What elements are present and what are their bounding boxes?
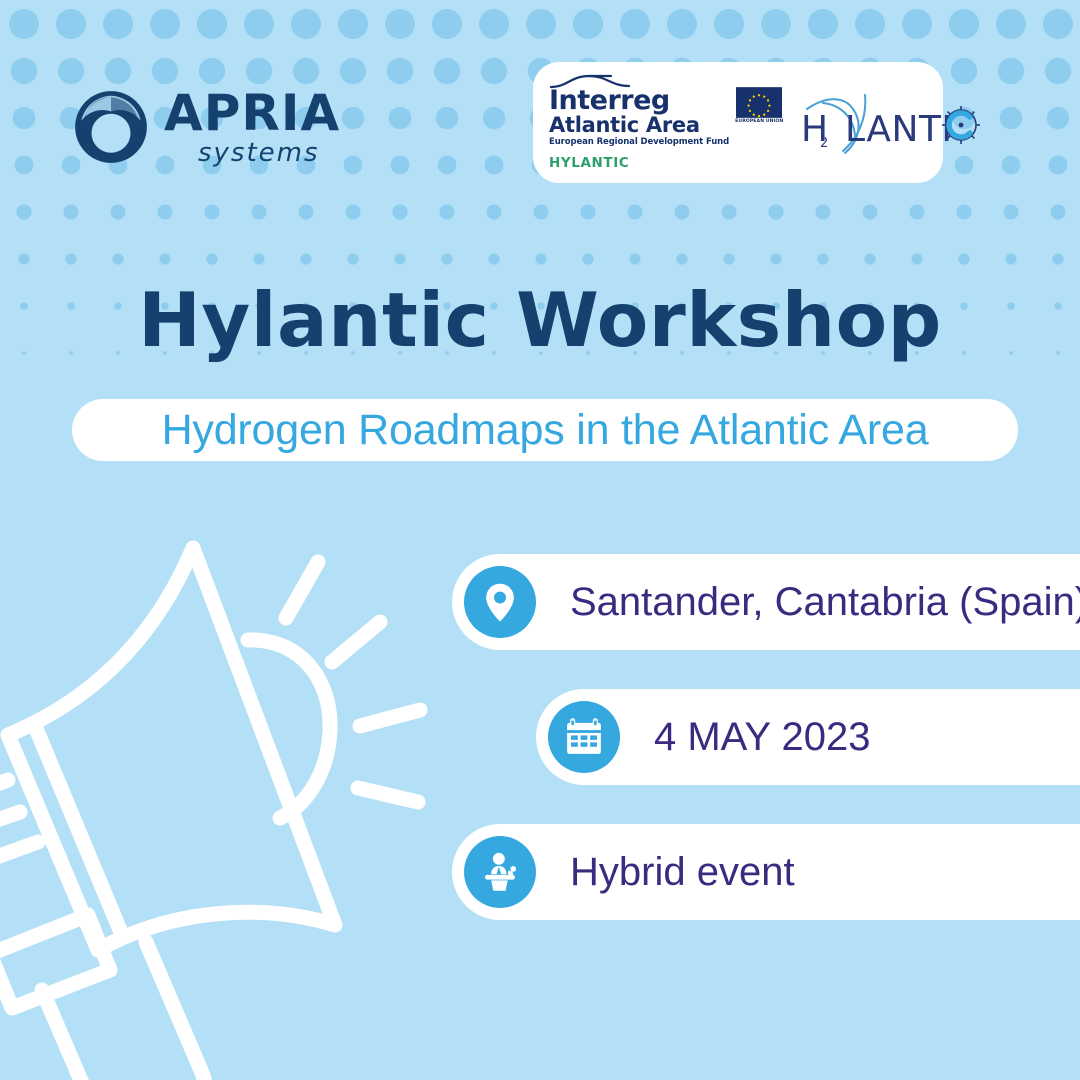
detail-label-date: 4 MAY 2023 [654,715,870,760]
apria-name: APRIA [164,88,340,138]
eu-flag-block: EUROPEAN UNION [735,87,783,125]
detail-row-format: Hybrid event [452,824,1080,920]
hylantic-logo: H 2 LANTI [793,83,993,163]
calendar-icon [548,701,620,773]
megaphone-sound-rays [286,562,420,802]
eu-flag-label: EUROPEAN UNION [735,119,783,124]
eu-flag-icon [736,87,782,118]
apria-systems-label: systems [198,140,340,166]
speaker-podium-icon [464,836,536,908]
apria-systems-logo: APRIA systems [72,72,332,182]
map-pin-icon [464,566,536,638]
detail-row-date: 4 MAY 2023 [536,689,1080,785]
interreg-project-name: HYLANTIC [549,155,783,171]
interreg-programme: Atlantic Area [549,115,729,136]
event-poster: APRIA systems Interreg Atlantic Area Eur… [0,0,1080,1080]
detail-label-format: Hybrid event [570,850,795,895]
apria-wordmark: APRIA systems [164,88,340,166]
interreg-name: Interreg [549,87,729,114]
interreg-atlantic-area-logo: Interreg Atlantic Area European Regional… [549,74,783,172]
hylantic-gear-c-icon [942,106,980,144]
detail-label-location: Santander, Cantabria (Spain) [570,580,1080,625]
page-title: Hylantic Workshop [0,276,1080,364]
subtitle-pill: Hydrogen Roadmaps in the Atlantic Area [72,399,1018,461]
subtitle-text: Hydrogen Roadmaps in the Atlantic Area [162,406,929,455]
detail-row-location: Santander, Cantabria (Spain) [452,554,1080,650]
partner-logo-card: Interreg Atlantic Area European Regional… [533,62,943,183]
svg-text:2: 2 [820,136,828,151]
svg-text:LANTI: LANTI [845,109,953,150]
interreg-fund-line: European Regional Development Fund [549,138,729,147]
megaphone-illustration [0,530,440,1080]
apria-circles-mark [72,88,150,166]
